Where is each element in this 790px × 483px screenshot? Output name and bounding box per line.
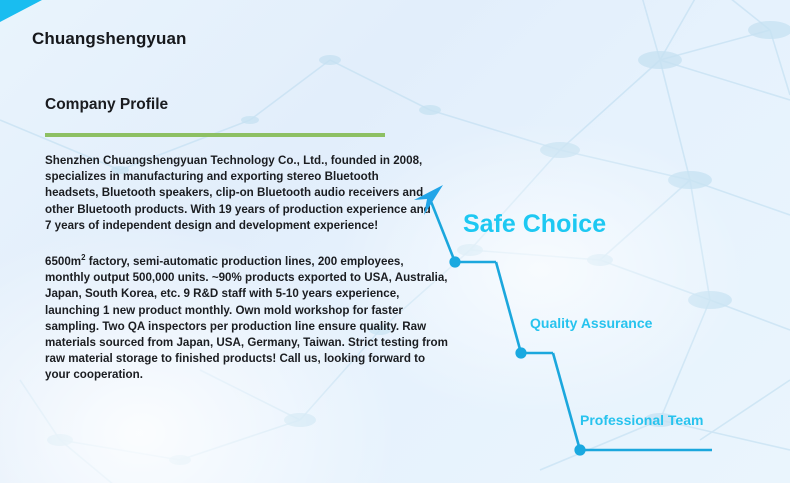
network-pattern-background [0, 0, 790, 483]
step-nodes [449, 256, 585, 455]
stair-label-professional-team: Professional Team [580, 412, 703, 428]
brand-title: Chuangshengyuan [32, 29, 187, 49]
staircase-arrow-diagram [0, 0, 790, 483]
company-profile-banner: Chuangshengyuan Company Profile Shenzhen… [0, 0, 790, 483]
profile-paragraph-2: 6500m2 factory, semi-automatic productio… [45, 254, 450, 384]
corner-triangle-decoration [0, 0, 42, 22]
page-title: Company Profile [45, 96, 168, 114]
stair-label-quality-assurance: Quality Assurance [530, 315, 652, 331]
heading-underline-rule [45, 133, 385, 137]
profile-paragraph-1: Shenzhen Chuangshengyuan Technology Co.,… [45, 153, 435, 234]
stair-label-safe-choice: Safe Choice [463, 210, 606, 239]
